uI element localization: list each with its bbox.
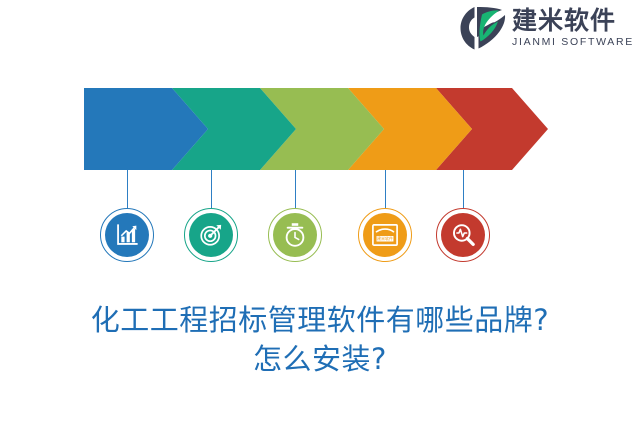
magnifier-pulse-icon <box>441 213 485 257</box>
process-connector-line-4 <box>385 170 386 208</box>
brand-name-cn: 建米软件 <box>512 8 616 33</box>
process-chevron-shape-1 <box>84 88 208 170</box>
process-icon-node-4[interactable]: 建米软件 <box>358 208 412 262</box>
brand-logo: 建米软件 JIANMI SOFTWARE <box>460 6 634 50</box>
process-icon-node-2[interactable] <box>184 208 238 262</box>
stopwatch-icon <box>273 213 317 257</box>
brand-text-block: 建米软件 JIANMI SOFTWARE <box>512 8 634 48</box>
process-icon-node-5[interactable] <box>436 208 490 262</box>
process-icon-node-3[interactable] <box>268 208 322 262</box>
page-title-line-2: 怎么安装? <box>0 340 640 378</box>
target-arrow-icon <box>189 213 233 257</box>
process-chevron-bar <box>84 88 548 170</box>
process-connector-line-3 <box>295 170 296 208</box>
presentation-board-icon: 建米软件 <box>363 213 407 257</box>
svg-text:建米软件: 建米软件 <box>377 235 393 241</box>
jianmi-logo-mark-icon <box>460 6 506 50</box>
bar-chart-growth-icon <box>105 213 149 257</box>
process-connector-line-5 <box>463 170 464 208</box>
process-connector-line-2 <box>211 170 212 208</box>
brand-name-en: JIANMI SOFTWARE <box>512 37 634 48</box>
page-title-line-1: 化工工程招标管理软件有哪些品牌? <box>0 301 640 339</box>
page-title: 化工工程招标管理软件有哪些品牌? 怎么安装? <box>0 301 640 378</box>
process-chevron-1[interactable] <box>84 88 208 170</box>
process-icon-node-1[interactable] <box>100 208 154 262</box>
process-connector-line-1 <box>127 170 128 208</box>
